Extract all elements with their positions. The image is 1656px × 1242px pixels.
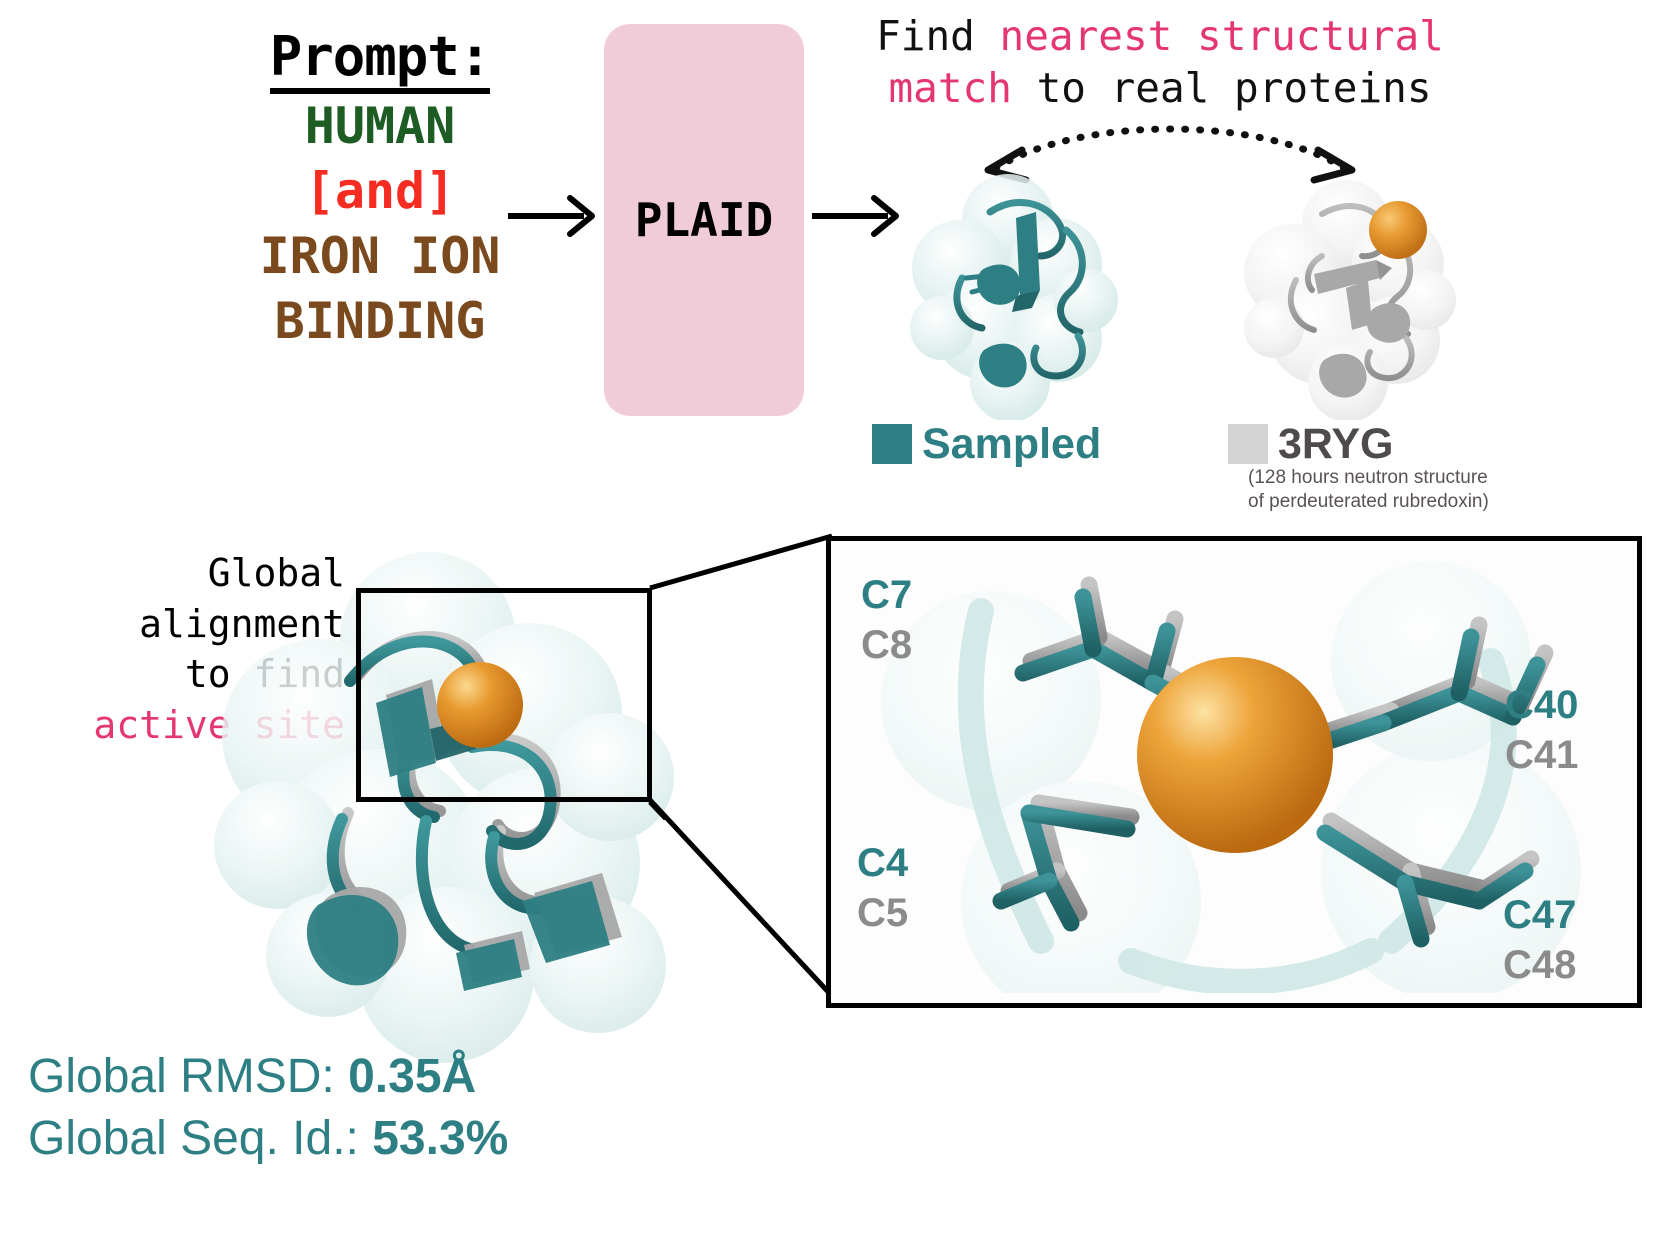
metric-rmsd-label: Global RMSD: [28,1050,335,1103]
prompt-title-wrap: Prompt: [180,28,580,94]
find-caption-seg3: match [888,64,1011,112]
reference-caption-line2: of perdeuterated rubredoxin) [1248,490,1548,514]
reference-structure-caption: (128 hours neutron structure of perdeute… [1248,466,1548,515]
plaid-model-label: PLAID [635,193,773,247]
iron-ion-sphere [1369,201,1427,259]
alignment-metrics: Global RMSD: 0.35Å Global Seq. Id.: 53.3… [28,1046,508,1171]
find-caption-seg4: to real proteins [1012,64,1432,112]
find-match-caption: Find nearest structural match to real pr… [860,10,1460,115]
residue-label-c41: C41 [1505,733,1578,778]
iron-ion-sphere-inset [1137,657,1333,853]
metric-seqid-value: 53.3% [372,1112,508,1165]
legend-item-reference: 3RYG [1228,420,1394,469]
metric-rmsd: Global RMSD: 0.35Å [28,1046,508,1108]
residue-label-c48: C48 [1503,943,1576,988]
legend-label-reference: 3RYG [1278,420,1394,468]
metric-rmsd-value: 0.35Å [348,1050,476,1103]
inset-connector-lines [648,530,834,820]
prompt-term-organism: HUMAN [180,94,580,159]
arrow-prompt-to-model [508,188,604,244]
page-title: Prompt: [270,28,491,94]
legend-label-sampled: Sampled [922,420,1101,468]
inset-connector-line-lower [648,796,834,1006]
reference-caption-line1: (128 hours neutron structure [1248,466,1548,490]
find-caption-line1: Find nearest structural [860,10,1460,62]
sampled-structure-render [890,160,1140,420]
metric-seqid-label: Global Seq. Id.: [28,1112,359,1165]
residue-label-c8: C8 [861,623,912,668]
inset-selection-box [356,588,652,802]
prompt-term-function-line2: BINDING [180,289,580,354]
reference-structure-render [1226,168,1476,420]
residue-label-c5: C5 [857,891,908,936]
plaid-model-box[interactable]: PLAID [604,24,804,416]
residue-label-c40: C40 [1505,683,1578,728]
metric-seqid: Global Seq. Id.: 53.3% [28,1108,508,1170]
find-caption-seg2: nearest structural [1000,12,1444,60]
residue-label-c4: C4 [857,841,908,886]
legend-swatch-sampled [872,424,912,464]
active-site-inset-panel: C7 C8 C40 C41 C4 C5 C47 C48 [826,536,1642,1008]
residue-label-c7: C7 [861,573,912,618]
legend-swatch-reference [1228,424,1268,464]
residue-label-c47: C47 [1503,893,1576,938]
find-caption-seg1: Find [876,12,999,60]
find-caption-line2: match to real proteins [860,62,1460,114]
legend-item-sampled: Sampled [872,420,1101,469]
